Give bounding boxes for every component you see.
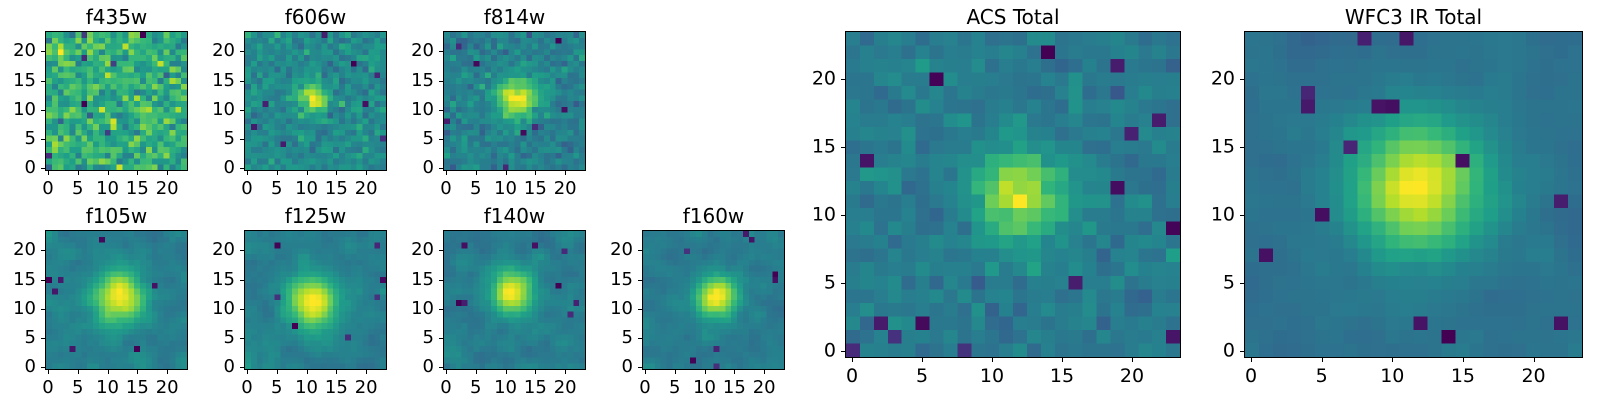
y-tick-f814w-10 [439, 110, 443, 111]
x-tick-label-f814w-5: 5 [470, 180, 481, 198]
y-tick-f125w-0 [240, 367, 244, 368]
x-tick-acs_total-10 [992, 358, 993, 362]
y-tick-f140w-20 [439, 250, 443, 251]
x-tick-f606w-20 [366, 171, 367, 175]
y-tick-label-f105w-5: 5 [0, 329, 36, 347]
x-tick-label-f125w-0: 0 [241, 379, 252, 397]
x-tick-label-f814w-20: 20 [554, 180, 577, 198]
x-tick-label-f160w-15: 15 [723, 379, 746, 397]
y-tick-label-f435w-0: 0 [0, 159, 36, 177]
y-tick-label-f606w-10: 10 [174, 101, 235, 119]
y-tick-wfc3_ir_total-15 [1240, 147, 1244, 148]
heatmap-f606w [244, 31, 387, 171]
x-tick-wfc3_ir_total-10 [1392, 358, 1393, 362]
y-tick-wfc3_ir_total-20 [1240, 79, 1244, 80]
y-tick-f125w-5 [240, 338, 244, 339]
x-tick-label-f435w-10: 10 [96, 180, 119, 198]
heatmap-image-wfc3_ir_total [1245, 32, 1582, 357]
x-tick-label-f140w-0: 0 [440, 379, 451, 397]
y-tick-label-f160w-0: 0 [572, 358, 633, 376]
x-tick-label-f125w-15: 15 [325, 379, 348, 397]
y-tick-label-f814w-10: 10 [373, 101, 434, 119]
x-tick-f105w-15 [137, 370, 138, 374]
y-tick-label-f606w-5: 5 [174, 130, 235, 148]
x-tick-f814w-0 [446, 171, 447, 175]
x-tick-label-wfc3_ir_total-20: 20 [1521, 367, 1545, 386]
heatmap-image-f435w [46, 32, 187, 170]
y-tick-label-f125w-10: 10 [174, 300, 235, 318]
heatmap-f160w [642, 230, 785, 370]
x-tick-label-f814w-10: 10 [494, 180, 517, 198]
x-tick-label-f606w-0: 0 [241, 180, 252, 198]
x-tick-label-f105w-15: 15 [126, 379, 149, 397]
y-tick-label-acs_total-10: 10 [775, 205, 836, 224]
heatmap-f435w [45, 31, 188, 171]
y-tick-f105w-15 [41, 280, 45, 281]
heatmap-image-f814w [444, 32, 585, 170]
x-tick-acs_total-5 [922, 358, 923, 362]
y-tick-f606w-15 [240, 81, 244, 82]
y-tick-f105w-20 [41, 250, 45, 251]
y-tick-label-wfc3_ir_total-15: 15 [1174, 137, 1235, 156]
x-tick-label-f140w-15: 15 [524, 379, 547, 397]
y-tick-f105w-5 [41, 338, 45, 339]
y-tick-f606w-0 [240, 168, 244, 169]
y-tick-label-f435w-15: 15 [0, 72, 36, 90]
x-tick-f160w-20 [764, 370, 765, 374]
y-tick-label-f814w-0: 0 [373, 159, 434, 177]
x-tick-label-wfc3_ir_total-5: 5 [1316, 367, 1328, 386]
x-tick-label-f125w-5: 5 [271, 379, 282, 397]
y-tick-f160w-20 [638, 250, 642, 251]
y-tick-f160w-10 [638, 309, 642, 310]
x-tick-label-acs_total-20: 20 [1120, 367, 1144, 386]
x-tick-f606w-0 [247, 171, 248, 175]
heatmap-image-acs_total [846, 32, 1180, 357]
y-tick-f125w-10 [240, 309, 244, 310]
x-tick-f140w-20 [565, 370, 566, 374]
y-tick-label-f125w-20: 20 [174, 241, 235, 259]
y-tick-label-f435w-20: 20 [0, 42, 36, 60]
y-tick-label-f105w-0: 0 [0, 358, 36, 376]
y-tick-f105w-10 [41, 309, 45, 310]
x-tick-f606w-15 [336, 171, 337, 175]
y-tick-f435w-0 [41, 168, 45, 169]
x-tick-label-f435w-0: 0 [42, 180, 53, 198]
y-tick-label-acs_total-15: 15 [775, 137, 836, 156]
y-tick-label-f160w-20: 20 [572, 241, 633, 259]
y-tick-label-wfc3_ir_total-10: 10 [1174, 205, 1235, 224]
y-tick-f160w-5 [638, 338, 642, 339]
x-tick-f125w-0 [247, 370, 248, 374]
x-tick-acs_total-15 [1062, 358, 1063, 362]
panel-wfc3_ir_total: WFC3 IR Total0510152005101520 [1174, 3, 1600, 390]
y-tick-f160w-0 [638, 367, 642, 368]
y-tick-label-f814w-5: 5 [373, 130, 434, 148]
y-tick-label-f814w-15: 15 [373, 72, 434, 90]
x-tick-label-acs_total-10: 10 [980, 367, 1004, 386]
y-tick-label-f160w-5: 5 [572, 329, 633, 347]
y-tick-label-f140w-20: 20 [373, 241, 434, 259]
y-tick-f160w-15 [638, 280, 642, 281]
x-tick-label-f435w-15: 15 [126, 180, 149, 198]
y-tick-f435w-5 [41, 139, 45, 140]
y-tick-f125w-15 [240, 280, 244, 281]
y-tick-f125w-20 [240, 250, 244, 251]
y-tick-f606w-20 [240, 51, 244, 52]
x-tick-f814w-15 [535, 171, 536, 175]
panel-title-f814w: f814w [373, 7, 656, 27]
y-tick-label-f435w-5: 5 [0, 130, 36, 148]
x-tick-f140w-0 [446, 370, 447, 374]
x-tick-label-f160w-20: 20 [753, 379, 776, 397]
y-tick-acs_total-0 [841, 351, 845, 352]
y-tick-label-acs_total-0: 0 [775, 342, 836, 361]
y-tick-f814w-0 [439, 168, 443, 169]
x-tick-f160w-5 [675, 370, 676, 374]
y-tick-wfc3_ir_total-10 [1240, 215, 1244, 216]
y-tick-f140w-5 [439, 338, 443, 339]
y-tick-acs_total-15 [841, 147, 845, 148]
x-tick-f160w-10 [705, 370, 706, 374]
x-tick-f435w-5 [78, 171, 79, 175]
y-tick-f435w-15 [41, 81, 45, 82]
x-tick-label-f105w-5: 5 [72, 379, 83, 397]
y-tick-label-wfc3_ir_total-0: 0 [1174, 342, 1235, 361]
y-tick-f606w-5 [240, 139, 244, 140]
heatmap-f105w [45, 230, 188, 370]
x-tick-label-f606w-5: 5 [271, 180, 282, 198]
heatmap-f814w [443, 31, 586, 171]
x-tick-f140w-5 [476, 370, 477, 374]
x-tick-f160w-0 [645, 370, 646, 374]
y-tick-f435w-20 [41, 51, 45, 52]
x-tick-label-wfc3_ir_total-15: 15 [1451, 367, 1475, 386]
x-tick-label-wfc3_ir_total-10: 10 [1380, 367, 1404, 386]
figure-canvas: f435w0510152005101520f606w05101520051015… [0, 0, 1600, 400]
x-tick-f125w-15 [336, 370, 337, 374]
y-tick-label-f105w-10: 10 [0, 300, 36, 318]
x-tick-wfc3_ir_total-20 [1534, 358, 1535, 362]
y-tick-f435w-10 [41, 110, 45, 111]
y-tick-label-f140w-15: 15 [373, 271, 434, 289]
x-tick-label-f814w-0: 0 [440, 180, 451, 198]
x-tick-f814w-5 [476, 171, 477, 175]
x-tick-f105w-10 [108, 370, 109, 374]
y-tick-label-f125w-15: 15 [174, 271, 235, 289]
heatmap-image-f140w [444, 231, 585, 369]
y-tick-acs_total-20 [841, 79, 845, 80]
x-tick-label-f105w-0: 0 [42, 379, 53, 397]
heatmap-image-f160w [643, 231, 784, 369]
y-tick-f814w-15 [439, 81, 443, 82]
x-tick-f105w-0 [48, 370, 49, 374]
x-tick-f125w-5 [277, 370, 278, 374]
x-tick-f140w-15 [535, 370, 536, 374]
x-tick-label-acs_total-5: 5 [916, 367, 928, 386]
panel-title-wfc3_ir_total: WFC3 IR Total [1174, 7, 1600, 27]
x-tick-label-f105w-10: 10 [96, 379, 119, 397]
y-tick-label-acs_total-20: 20 [775, 69, 836, 88]
x-tick-f435w-10 [108, 171, 109, 175]
y-tick-f140w-10 [439, 309, 443, 310]
x-tick-wfc3_ir_total-15 [1463, 358, 1464, 362]
x-tick-f125w-10 [307, 370, 308, 374]
x-tick-acs_total-0 [852, 358, 853, 362]
y-tick-f814w-20 [439, 51, 443, 52]
y-tick-label-f814w-20: 20 [373, 42, 434, 60]
y-tick-label-f125w-0: 0 [174, 358, 235, 376]
y-tick-label-wfc3_ir_total-20: 20 [1174, 69, 1235, 88]
y-tick-label-f125w-5: 5 [174, 329, 235, 347]
x-tick-f814w-10 [506, 171, 507, 175]
y-tick-f140w-15 [439, 280, 443, 281]
x-tick-label-f606w-10: 10 [295, 180, 318, 198]
heatmap-image-f125w [245, 231, 386, 369]
y-tick-f606w-10 [240, 110, 244, 111]
y-tick-f814w-5 [439, 139, 443, 140]
x-tick-label-wfc3_ir_total-0: 0 [1245, 367, 1257, 386]
y-tick-acs_total-5 [841, 283, 845, 284]
y-tick-f140w-0 [439, 367, 443, 368]
y-tick-label-f140w-10: 10 [373, 300, 434, 318]
x-tick-wfc3_ir_total-5 [1322, 358, 1323, 362]
x-tick-wfc3_ir_total-0 [1251, 358, 1252, 362]
y-tick-label-f606w-20: 20 [174, 42, 235, 60]
y-tick-label-f140w-0: 0 [373, 358, 434, 376]
x-tick-f105w-20 [167, 370, 168, 374]
y-tick-wfc3_ir_total-5 [1240, 283, 1244, 284]
x-tick-label-f140w-5: 5 [470, 379, 481, 397]
y-tick-label-f606w-15: 15 [174, 72, 235, 90]
x-tick-f814w-20 [565, 171, 566, 175]
x-tick-label-acs_total-15: 15 [1050, 367, 1074, 386]
x-tick-label-f606w-15: 15 [325, 180, 348, 198]
heatmap-image-f105w [46, 231, 187, 369]
heatmap-acs_total [845, 31, 1181, 358]
heatmap-image-f606w [245, 32, 386, 170]
x-tick-f140w-10 [506, 370, 507, 374]
x-tick-label-f435w-5: 5 [72, 180, 83, 198]
x-tick-label-acs_total-0: 0 [846, 367, 858, 386]
y-tick-label-f140w-5: 5 [373, 329, 434, 347]
y-tick-label-f105w-20: 20 [0, 241, 36, 259]
y-tick-label-f160w-15: 15 [572, 271, 633, 289]
heatmap-f140w [443, 230, 586, 370]
y-tick-label-acs_total-5: 5 [775, 274, 836, 293]
x-tick-label-f125w-10: 10 [295, 379, 318, 397]
x-tick-f160w-15 [734, 370, 735, 374]
x-tick-f105w-5 [78, 370, 79, 374]
x-tick-f435w-15 [137, 171, 138, 175]
y-tick-label-f105w-15: 15 [0, 271, 36, 289]
x-tick-f125w-20 [366, 370, 367, 374]
heatmap-f125w [244, 230, 387, 370]
y-tick-f105w-0 [41, 367, 45, 368]
x-tick-f435w-0 [48, 171, 49, 175]
x-tick-label-f160w-10: 10 [693, 379, 716, 397]
x-tick-acs_total-20 [1132, 358, 1133, 362]
x-tick-f606w-5 [277, 171, 278, 175]
x-tick-f606w-10 [307, 171, 308, 175]
y-tick-wfc3_ir_total-0 [1240, 351, 1244, 352]
y-tick-label-wfc3_ir_total-5: 5 [1174, 274, 1235, 293]
y-tick-label-f160w-10: 10 [572, 300, 633, 318]
x-tick-label-f160w-0: 0 [639, 379, 650, 397]
x-tick-label-f814w-15: 15 [524, 180, 547, 198]
x-tick-label-f160w-5: 5 [669, 379, 680, 397]
x-tick-f435w-20 [167, 171, 168, 175]
y-tick-label-f435w-10: 10 [0, 101, 36, 119]
panel-f814w: f814w0510152005101520 [373, 3, 656, 203]
y-tick-label-f606w-0: 0 [174, 159, 235, 177]
heatmap-wfc3_ir_total [1244, 31, 1583, 358]
x-tick-label-f140w-10: 10 [494, 379, 517, 397]
y-tick-acs_total-10 [841, 215, 845, 216]
